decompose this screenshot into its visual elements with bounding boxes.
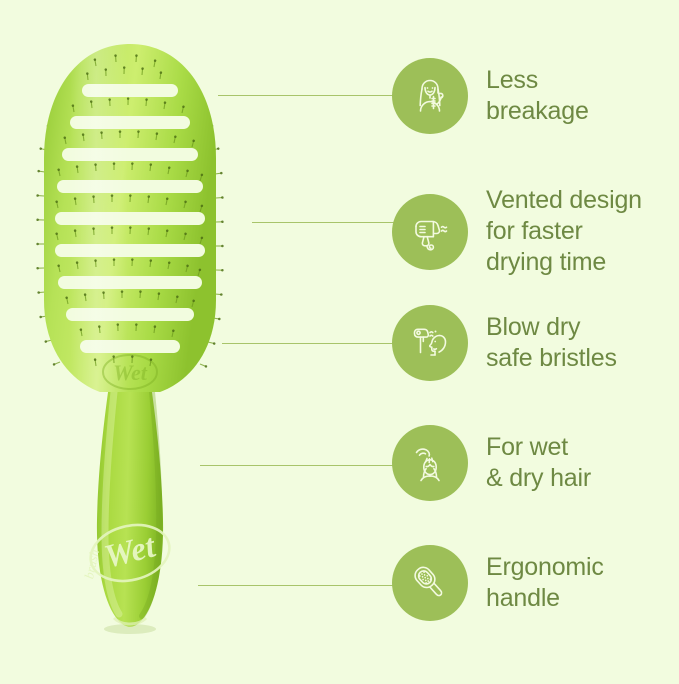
product-image: Wet brush bbox=[0, 0, 260, 679]
feature-item-blow-dry-safe: Blow dry safe bristles bbox=[392, 305, 617, 381]
brush-head: Wet bbox=[44, 44, 216, 394]
paddle-brush-icon bbox=[392, 545, 468, 621]
feature-item-less-breakage: Less breakage bbox=[392, 58, 589, 134]
connector-line-ergonomic-handle bbox=[198, 585, 398, 586]
feature-label-ergonomic-handle: Ergonomic handle bbox=[486, 552, 604, 614]
feature-label-vented-design: Vented design for faster drying time bbox=[486, 185, 642, 278]
feature-label-blow-dry-safe: Blow dry safe bristles bbox=[486, 312, 617, 374]
blow-dry-face-icon bbox=[392, 305, 468, 381]
hair-brush-illustration: Wet brush bbox=[0, 0, 260, 679]
brush-handle bbox=[97, 378, 163, 627]
shower-head-icon bbox=[392, 425, 468, 501]
connector-line-vented-design bbox=[252, 222, 398, 223]
product-feature-infographic: Wet brush bbox=[0, 0, 679, 679]
woman-brushing-hair-icon bbox=[392, 58, 468, 134]
feature-label-wet-and-dry: For wet & dry hair bbox=[486, 432, 591, 494]
feature-item-wet-and-dry: For wet & dry hair bbox=[392, 425, 591, 501]
connector-line-blow-dry-safe bbox=[222, 343, 398, 344]
hair-dryer-icon bbox=[392, 194, 468, 270]
feature-label-less-breakage: Less breakage bbox=[486, 65, 589, 127]
feature-item-ergonomic-handle: Ergonomic handle bbox=[392, 545, 604, 621]
neck-logo-text: Wet bbox=[113, 360, 148, 385]
connector-line-wet-and-dry bbox=[200, 465, 398, 466]
connector-line-less-breakage bbox=[218, 95, 398, 96]
feature-item-vented-design: Vented design for faster drying time bbox=[392, 185, 642, 278]
